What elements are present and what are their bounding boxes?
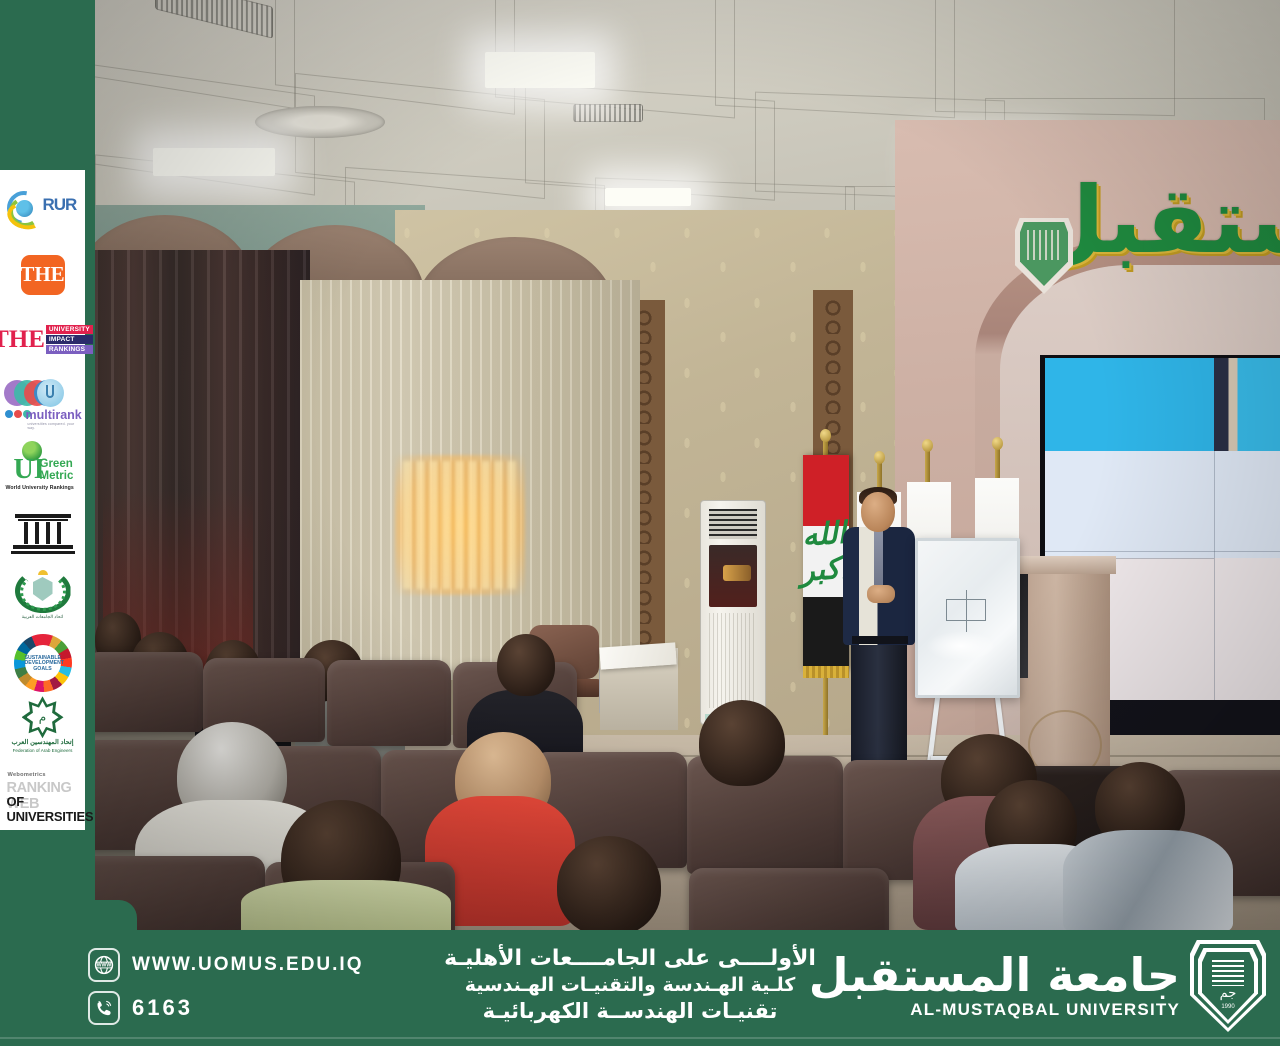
seat bbox=[689, 868, 889, 930]
audience-torso bbox=[241, 880, 451, 930]
audience-torso bbox=[1063, 830, 1233, 930]
globe-www-icon: WWW bbox=[88, 948, 120, 982]
seat bbox=[327, 660, 451, 746]
audience-head bbox=[699, 700, 785, 786]
website-row[interactable]: WWW WWW.UOMUS.EDU.IQ bbox=[88, 948, 388, 982]
speaker-tie bbox=[874, 530, 883, 592]
the-logo: THE bbox=[4, 243, 82, 307]
ceiling-light bbox=[605, 188, 691, 206]
association-arab-universities-logo: اتحاد الجامعات العربية bbox=[4, 566, 82, 630]
sdg-wheel-logo: SUSTAINABLE DEVELOPMENT GOALS bbox=[4, 631, 82, 695]
webometrics-line1: Webometrics bbox=[8, 772, 46, 778]
window-light-patch bbox=[395, 455, 525, 595]
greenmetric-line2: Metric bbox=[40, 470, 74, 482]
footer-bar: WWW WWW.UOMUS.EDU.IQ 6163 الأولــــى على… bbox=[0, 930, 1280, 1046]
brand-lockup: جامعة المستقبل AL-MUSTAQBAL UNIVERSITY ج… bbox=[809, 940, 1266, 1032]
rur-logo-label: RUR bbox=[43, 195, 77, 215]
flipchart-whiteboard bbox=[915, 538, 1020, 698]
arabic-line-1: الأولــــى على الجامــــعات الأهليـة bbox=[400, 946, 860, 971]
the-impact-line1: UNIVERSITY bbox=[46, 325, 93, 334]
svg-text:WWW: WWW bbox=[97, 963, 112, 969]
phone-row[interactable]: 6163 bbox=[88, 991, 388, 1025]
seat bbox=[95, 652, 203, 732]
phone-label[interactable]: 6163 bbox=[132, 995, 193, 1021]
fae-arabic: إتحاد المهندسين العرب bbox=[9, 738, 77, 746]
speaker-head bbox=[861, 492, 895, 532]
the-impact-rankings-logo: THE UNIVERSITY IMPACT RANKINGS bbox=[4, 307, 82, 371]
air-conditioner-unit bbox=[700, 500, 766, 725]
brand-english-name: AL-MUSTAQBAL UNIVERSITY bbox=[809, 1000, 1180, 1020]
arabic-line-3: تقنيـات الهندســة الكهربائيـة bbox=[400, 999, 860, 1023]
photo-corner-notch bbox=[95, 900, 137, 930]
webometrics-line3: OF UNIVERSITIES bbox=[7, 794, 94, 824]
aau-caption: اتحاد الجامعات العربية bbox=[13, 614, 73, 620]
greenmetric-subtitle: World University Rankings bbox=[6, 485, 74, 491]
air-vent-icon bbox=[573, 104, 643, 122]
fae-english: Federation of Arab Engineers bbox=[9, 748, 77, 753]
audience-head bbox=[557, 836, 661, 930]
speaker-hands bbox=[867, 585, 895, 603]
globe-icon bbox=[16, 200, 33, 217]
ui-greenmetric-logo: UI Green Metric World University Ranking… bbox=[4, 437, 82, 501]
university-shield-logo: جم 1990 bbox=[1190, 940, 1266, 1032]
shield-year: 1990 bbox=[1216, 1004, 1240, 1010]
the-logo-label: THE bbox=[21, 255, 65, 295]
the-impact-label: THE bbox=[0, 327, 45, 352]
multirank-tagline: universities compared. your way. bbox=[28, 422, 82, 430]
ceiling-fan-icon bbox=[255, 106, 385, 138]
multirank-label: multirank bbox=[26, 408, 82, 422]
arabic-line-2: كلـية الهـندسة والتقنيـات الهـندسية bbox=[400, 974, 860, 996]
sdg-label: SUSTAINABLE DEVELOPMENT GOALS bbox=[25, 656, 61, 673]
rankings-rail: RUR THE THE UNIVERSITY IMPACT RANKINGS bbox=[0, 0, 95, 930]
rur-logo: RUR bbox=[4, 178, 82, 242]
the-impact-line2: IMPACT bbox=[46, 335, 93, 344]
fae-emblem: م bbox=[33, 708, 53, 726]
contact-block: WWW WWW.UOMUS.EDU.IQ 6163 bbox=[88, 948, 388, 1034]
podium bbox=[1020, 570, 1110, 785]
ministry-temple-logo bbox=[4, 501, 82, 565]
audience-head bbox=[497, 634, 555, 696]
ceiling-light bbox=[153, 148, 275, 176]
temple-icon bbox=[11, 510, 75, 556]
phone-icon bbox=[88, 991, 120, 1025]
speaker-belt bbox=[852, 636, 908, 644]
u-multirank-logo: multirank universities compared. your wa… bbox=[4, 372, 82, 436]
greenmetric-line1: Green bbox=[40, 458, 73, 470]
footer-divider bbox=[0, 1037, 1280, 1039]
event-card: RUR THE THE UNIVERSITY IMPACT RANKINGS bbox=[0, 0, 1280, 1046]
the-impact-line3: RANKINGS bbox=[46, 345, 93, 354]
rankings-logo-panel: RUR THE THE UNIVERSITY IMPACT RANKINGS bbox=[0, 170, 85, 830]
ceiling-light bbox=[485, 52, 595, 88]
shield-calligraphy: جم bbox=[1210, 986, 1246, 1004]
arabic-tagline-block: الأولــــى على الجامــــعات الأهليـة كلـ… bbox=[400, 946, 860, 1023]
brand-arabic-name: جامعة المستقبل bbox=[809, 952, 1180, 998]
event-photo: ستقبل الله أكبر bbox=[95, 0, 1280, 930]
website-label[interactable]: WWW.UOMUS.EDU.IQ bbox=[132, 954, 363, 976]
federation-arab-engineers-logo: م إتحاد المهندسين العرب Federation of Ar… bbox=[4, 695, 82, 759]
webometrics-logo: Webometrics RANKING WEB OF UNIVERSITIES bbox=[4, 760, 82, 824]
